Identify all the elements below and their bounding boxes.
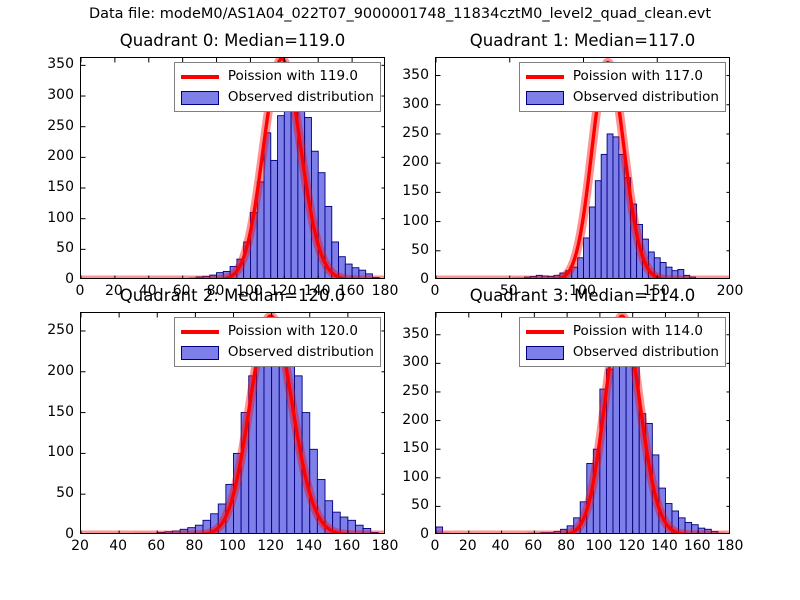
x-tick-label: 0 bbox=[431, 538, 440, 554]
chart-legend[interactable]: Poission with 119.0Observed distribution bbox=[174, 62, 381, 112]
x-tick-label: 60 bbox=[524, 538, 542, 554]
histogram-bar bbox=[443, 533, 450, 534]
legend-label-observed: Observed distribution bbox=[228, 346, 374, 360]
legend-patch-swatch bbox=[525, 90, 565, 106]
x-tick-label: 120 bbox=[618, 538, 645, 554]
chart-legend[interactable]: Poission with 117.0Observed distribution bbox=[519, 62, 726, 112]
y-tick-label: 150 bbox=[0, 440, 429, 456]
legend-line-swatch bbox=[180, 69, 220, 85]
histogram-bar bbox=[534, 533, 541, 534]
legend-item-poisson: Poission with 119.0 bbox=[180, 66, 374, 87]
figure-canvas: Data file: modeM0/AS1A04_022T07_90000017… bbox=[0, 0, 800, 600]
y-tick-label: 100 bbox=[0, 469, 429, 485]
legend-patch-swatch bbox=[180, 90, 220, 106]
legend-item-observed: Observed distribution bbox=[180, 87, 374, 108]
x-tick-label: 100 bbox=[586, 538, 613, 554]
legend-item-observed: Observed distribution bbox=[525, 87, 719, 108]
legend-item-poisson: Poission with 117.0 bbox=[525, 66, 719, 87]
bar-patch-icon bbox=[181, 346, 219, 360]
legend-patch-swatch bbox=[525, 345, 565, 361]
x-tick-label: 180 bbox=[717, 538, 744, 554]
legend-line-swatch bbox=[525, 69, 565, 85]
chart-legend[interactable]: Poission with 120.0Observed distribution bbox=[174, 317, 381, 367]
x-tick-label: 20 bbox=[459, 538, 477, 554]
x-tick-label: 140 bbox=[651, 538, 678, 554]
legend-line-swatch bbox=[180, 324, 220, 340]
legend-label-observed: Observed distribution bbox=[573, 346, 719, 360]
legend-item-observed: Observed distribution bbox=[525, 342, 719, 363]
bar-patch-icon bbox=[181, 91, 219, 105]
subplot-title: Quadrant 3: Median=114.0 bbox=[435, 286, 730, 305]
histogram-bar bbox=[528, 533, 535, 534]
bar-patch-icon bbox=[526, 91, 564, 105]
bar-patch-icon bbox=[526, 346, 564, 360]
legend-label-observed: Observed distribution bbox=[573, 91, 719, 105]
legend-label-poisson: Poission with 114.0 bbox=[573, 325, 703, 339]
legend-label-poisson: Poission with 120.0 bbox=[228, 325, 358, 339]
legend-label-poisson: Poission with 119.0 bbox=[228, 70, 358, 84]
legend-item-poisson: Poission with 120.0 bbox=[180, 321, 374, 342]
legend-label-poisson: Poission with 117.0 bbox=[573, 70, 703, 84]
legend-patch-swatch bbox=[180, 345, 220, 361]
line-icon bbox=[181, 75, 219, 79]
histogram-bar bbox=[613, 340, 620, 534]
legend-label-observed: Observed distribution bbox=[228, 91, 374, 105]
x-tick-label: 80 bbox=[557, 538, 575, 554]
line-icon bbox=[526, 330, 564, 334]
histogram-bar bbox=[718, 533, 725, 534]
legend-line-swatch bbox=[525, 324, 565, 340]
legend-item-poisson: Poission with 114.0 bbox=[525, 321, 719, 342]
y-tick-label: 50 bbox=[0, 497, 429, 513]
legend-item-observed: Observed distribution bbox=[180, 342, 374, 363]
line-icon bbox=[526, 75, 564, 79]
chart-legend[interactable]: Poission with 114.0Observed distribution bbox=[519, 317, 726, 367]
y-tick-label: 200 bbox=[0, 412, 429, 428]
line-icon bbox=[181, 330, 219, 334]
x-tick-label: 40 bbox=[492, 538, 510, 554]
y-tick-label: 250 bbox=[0, 383, 429, 399]
x-tick-label: 160 bbox=[684, 538, 711, 554]
y-tick-label: 0 bbox=[0, 526, 429, 542]
